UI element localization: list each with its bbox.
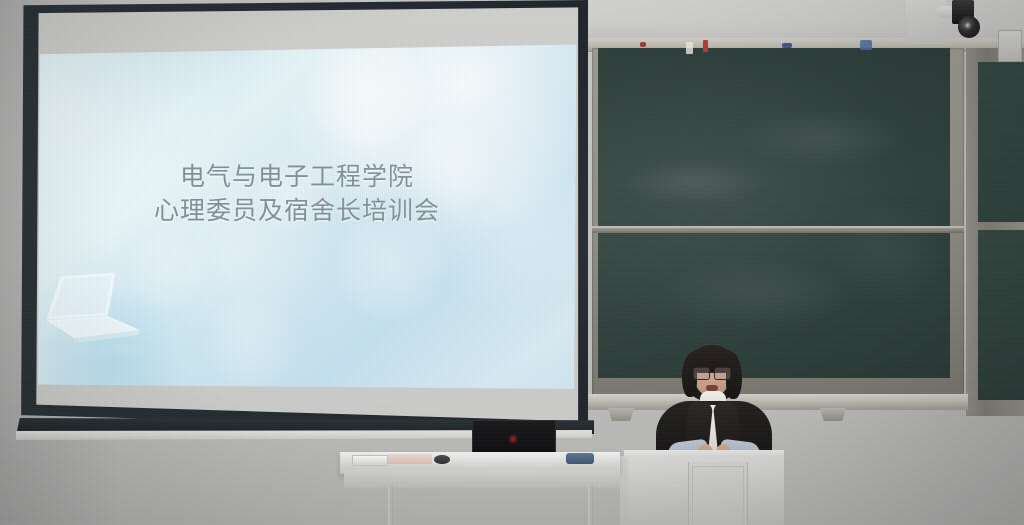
presentation-table-leg bbox=[588, 486, 593, 525]
slide-title: 电气与电子工程学院 心理委员及宿舍长培训会 bbox=[6, 160, 588, 228]
blue-clip-icon bbox=[782, 43, 792, 48]
white-clip-icon bbox=[686, 42, 693, 54]
presentation-table-leg bbox=[388, 486, 393, 525]
side-chalkboard-upper bbox=[978, 62, 1024, 222]
chalk-smudge bbox=[828, 198, 948, 308]
remote-control[interactable] bbox=[352, 455, 388, 466]
chalk-ledge-bracket bbox=[608, 408, 634, 421]
blue-cloth bbox=[566, 453, 594, 464]
wall-mounted-box bbox=[998, 30, 1022, 62]
chalk-smudge bbox=[658, 258, 858, 328]
lectern-panel-inset bbox=[692, 466, 744, 525]
book-on-table[interactable] bbox=[388, 454, 432, 464]
chalk-smudge bbox=[618, 158, 768, 206]
projection-screen: 电气与电子工程学院 心理委员及宿舍长培训会 bbox=[6, 0, 588, 440]
eyeglasses-icon bbox=[692, 367, 732, 379]
slide-title-line-1: 电气与电子工程学院 bbox=[180, 162, 414, 191]
chalk-smudge bbox=[738, 108, 908, 168]
eyeglass-bridge bbox=[708, 372, 715, 373]
red-clip-icon bbox=[703, 40, 708, 52]
projected-slide: 电气与电子工程学院 心理委员及宿舍长培训会 bbox=[6, 0, 588, 437]
laptop-logo-icon bbox=[508, 434, 518, 444]
slide-title-line-2: 心理委员及宿舍长培训会 bbox=[6, 194, 588, 228]
computer-mouse[interactable] bbox=[434, 455, 450, 464]
eyeglass-lens-right bbox=[714, 367, 731, 380]
blue-clip-icon bbox=[860, 40, 872, 50]
chalkboard-surface bbox=[598, 48, 950, 378]
bokeh-circle bbox=[206, 300, 296, 390]
bokeh-circle bbox=[446, 50, 506, 110]
eyeglass-lens-left bbox=[693, 367, 710, 380]
chalkboard-divider-rail bbox=[592, 226, 964, 233]
red-clip-icon bbox=[640, 42, 646, 47]
presentation-table-front bbox=[344, 470, 620, 488]
laptop-illustration-icon bbox=[34, 268, 164, 358]
paper-sheet bbox=[596, 452, 618, 461]
side-chalkboard-lower bbox=[978, 230, 1024, 400]
chalk-ledge-bracket bbox=[820, 408, 846, 421]
classroom-photo: 电气与电子工程学院 心理委员及宿舍长培训会 bbox=[0, 0, 1024, 525]
camera-lens-icon bbox=[964, 22, 974, 32]
